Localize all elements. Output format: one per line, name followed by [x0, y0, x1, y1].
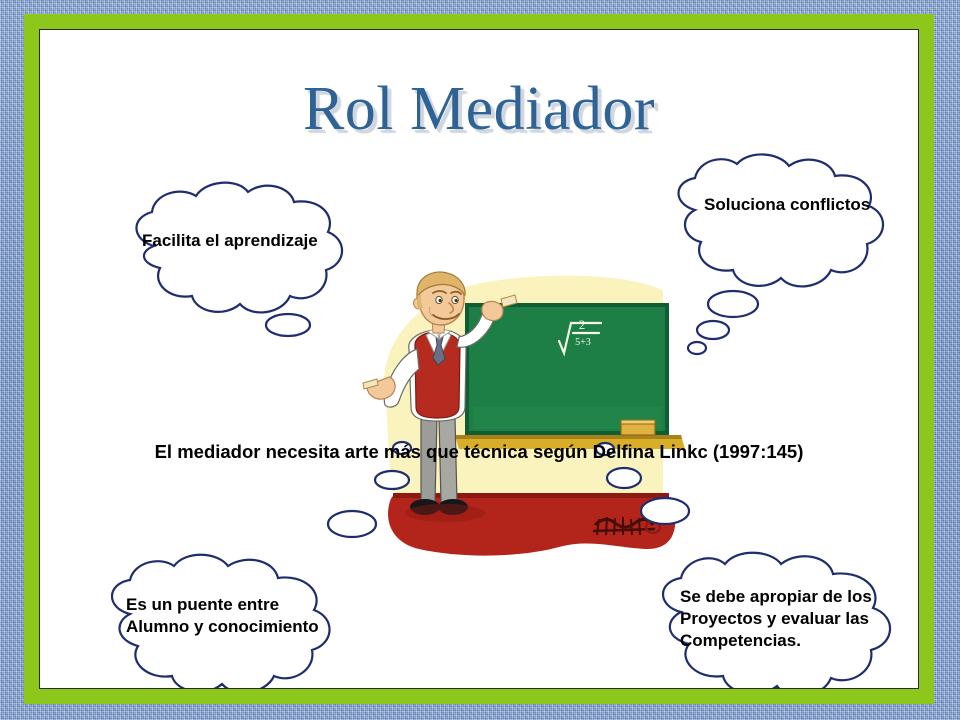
bubble-proyectos-text: Se debe apropiar de losProyectos y evalu… — [680, 586, 872, 651]
bubble-facilita-text: Facilita el aprendizaje — [142, 230, 318, 252]
bubble-tail-dot-1 — [708, 291, 758, 317]
bubble-soluciona-text: Soluciona conflictos — [704, 194, 870, 216]
thought-bubble-puente[interactable]: Es un puente entreAlumno y conocimiento — [78, 552, 398, 689]
teacher-pupil-left — [439, 299, 442, 302]
bubble-cloud-outline — [679, 154, 884, 286]
thought-bubble-soluciona[interactable]: Soluciona conflictos — [647, 152, 919, 382]
slide-background: Rol Mediador — [0, 0, 960, 720]
center-caption: El mediador necesita arte más que técnic… — [40, 441, 918, 463]
bubble-proyectos-line-1: Se debe apropiar de los — [680, 587, 872, 606]
formula-numerator: 2 — [579, 317, 586, 332]
thought-bubble-proyectos[interactable]: Se debe apropiar de losProyectos y evalu… — [643, 550, 919, 689]
bubble-proyectos-line-2: Proyectos y evaluar las — [680, 609, 869, 628]
bubble-tail-dot-1 — [266, 314, 310, 336]
thought-bubble-facilita[interactable]: Facilita el aprendizaje — [92, 178, 412, 368]
bubble-puente-text: Es un puente entreAlumno y conocimiento — [126, 594, 319, 638]
slide-canvas: Rol Mediador — [39, 29, 919, 689]
teacher-right-hand — [482, 301, 503, 320]
bubble-puente-line-1: Es un puente entre — [126, 595, 279, 614]
teacher-pupil-right — [455, 299, 458, 302]
bubble-tail-dot-3 — [688, 342, 706, 354]
bubble-tail-dot-2 — [697, 321, 729, 339]
green-frame: Rol Mediador — [24, 14, 934, 704]
bubble-puente-line-2: Alumno y conocimiento — [126, 617, 319, 636]
bubble-proyectos-line-3: Competencias. — [680, 631, 801, 650]
formula-denominator: 5+3 — [575, 337, 591, 348]
chalk-box-lid — [621, 420, 655, 424]
chalkboard-ledge-shadow — [455, 435, 682, 439]
teacher-shadow — [405, 504, 485, 522]
chalk-box — [621, 423, 655, 435]
page-title: Rol Mediador — [40, 78, 918, 140]
